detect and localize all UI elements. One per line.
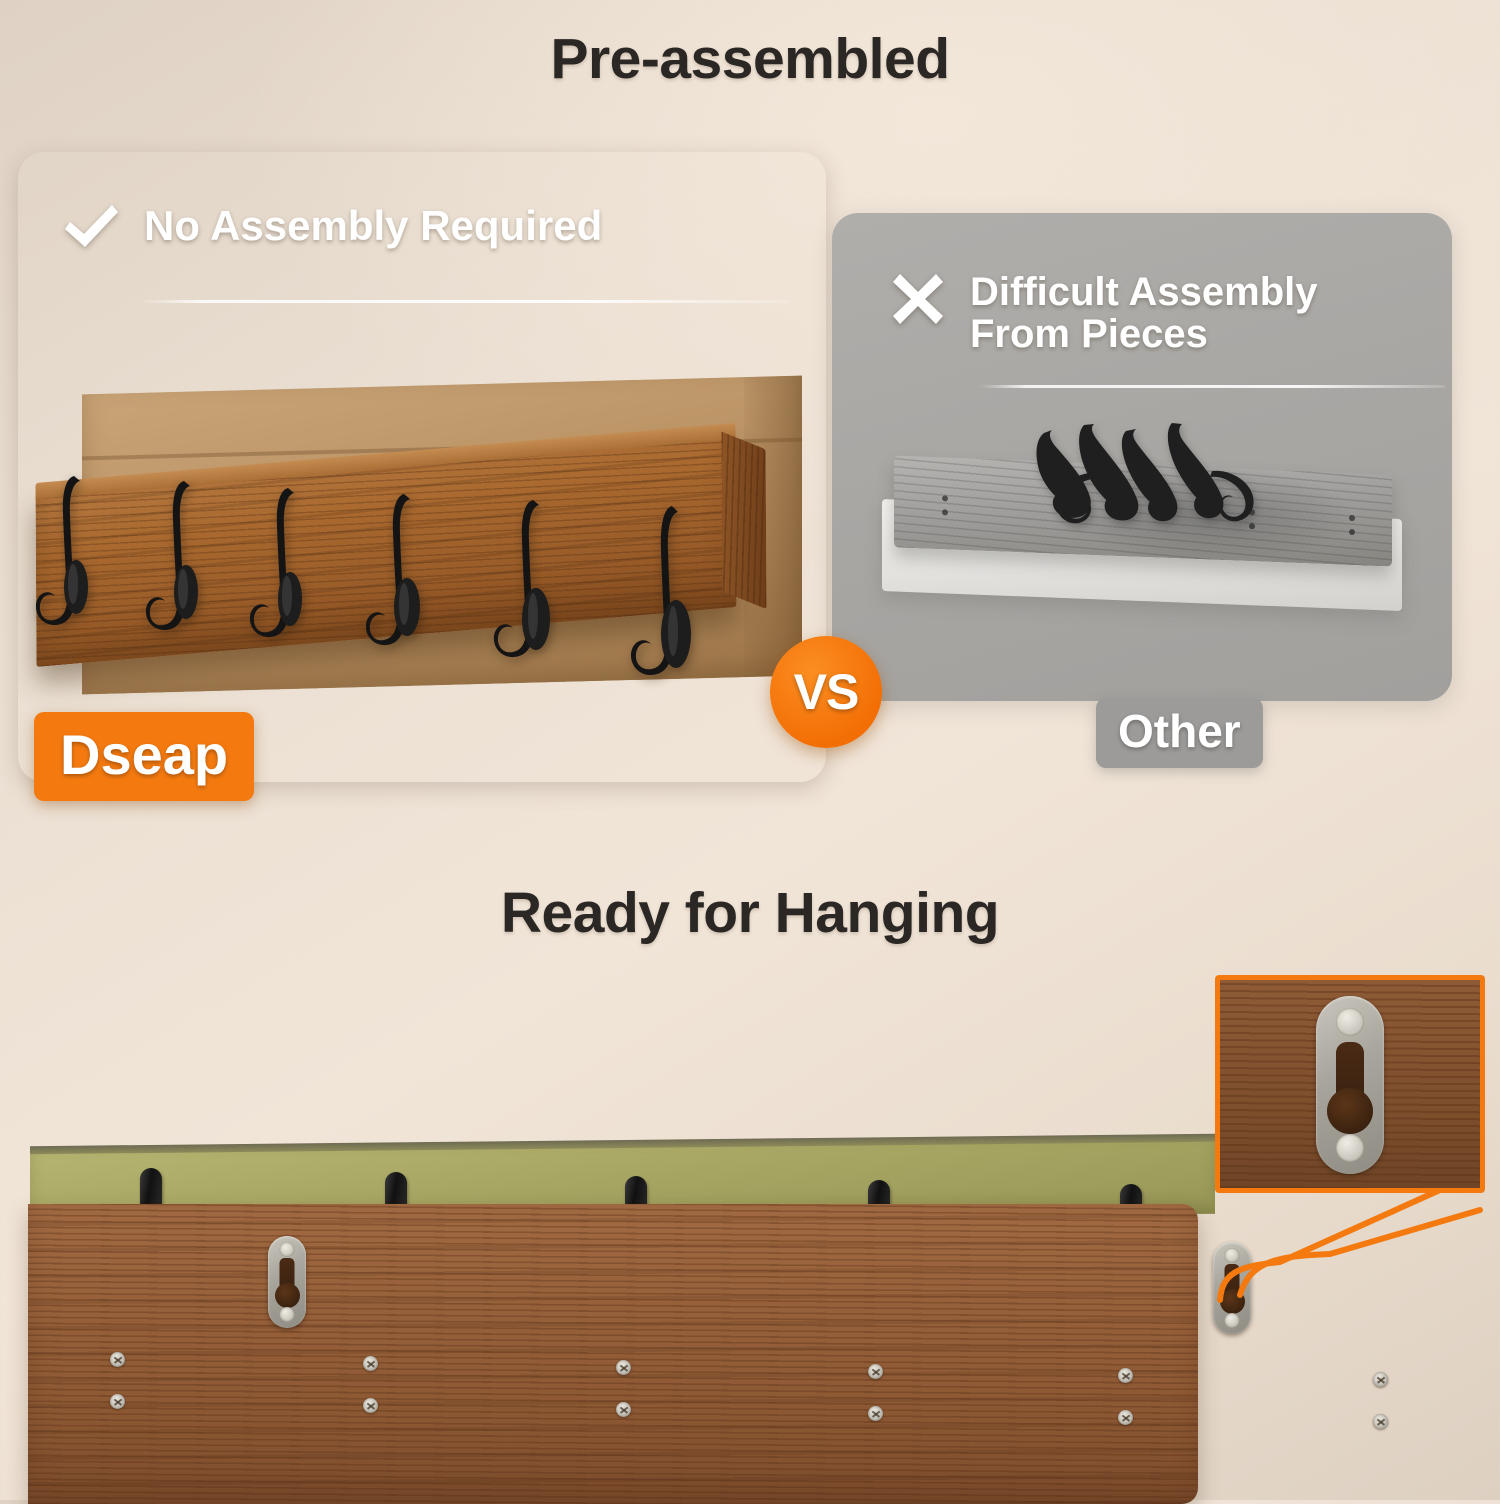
- keyhole-screw: [1225, 1248, 1240, 1263]
- coat-hook: [366, 490, 432, 666]
- versus-badge: VS: [770, 636, 882, 748]
- mounting-screw: [868, 1364, 883, 1379]
- mounting-screw: [363, 1398, 378, 1413]
- mounting-screw: [616, 1402, 631, 1417]
- keyhole-hanger-right: [1213, 1242, 1251, 1334]
- mounting-screw: [363, 1356, 378, 1371]
- keyhole-screw: [280, 1307, 295, 1322]
- good-panel-divider: [138, 300, 788, 303]
- rack-back-board: [28, 1204, 1198, 1504]
- good-panel-header: No Assembly Required: [60, 202, 602, 254]
- comparison-panel-dseap: No Assembly Required: [18, 152, 826, 782]
- keyhole-hanger-detail: [1316, 996, 1384, 1174]
- keyhole-slot: [280, 1258, 295, 1302]
- keyhole-detail-callout: [1215, 975, 1485, 1193]
- check-icon: [60, 202, 122, 254]
- pilot-hole: [942, 495, 948, 501]
- coat-hook: [630, 502, 704, 694]
- comparison-panel-other: Difficult Assembly From Pieces: [832, 213, 1452, 701]
- mounting-screw: [1373, 1372, 1388, 1387]
- brand-badge-dseap: Dseap: [34, 712, 254, 801]
- keyhole-screw: [1336, 1008, 1364, 1036]
- photo-unassembled-parts: [842, 409, 1442, 639]
- coat-hook: [146, 477, 212, 649]
- keyhole-screw: [280, 1242, 295, 1257]
- keyhole-screw: [1225, 1313, 1240, 1328]
- keyhole-slot: [1225, 1264, 1240, 1308]
- pilot-hole: [1349, 529, 1355, 535]
- keyhole-hanger-left: [268, 1236, 306, 1328]
- pilot-hole: [942, 509, 948, 515]
- page-title-pre-assembled: Pre-assembled: [0, 26, 1500, 92]
- page-title-ready-for-hanging: Ready for Hanging: [0, 880, 1500, 946]
- mounting-screw: [1373, 1414, 1388, 1429]
- bad-panel-label: Difficult Assembly From Pieces: [970, 271, 1317, 356]
- coat-hook: [250, 484, 316, 656]
- keyhole-slot: [1336, 1042, 1364, 1122]
- good-panel-label: No Assembly Required: [144, 204, 602, 249]
- mounting-screw: [1118, 1368, 1133, 1383]
- product-infographic: Pre-assembled No Assembly Required: [0, 0, 1500, 1500]
- loose-hook-pile: [1022, 417, 1292, 567]
- mounting-screw: [868, 1406, 883, 1421]
- mounting-screw: [1118, 1410, 1133, 1425]
- photo-rack-back-side: [0, 1140, 1500, 1500]
- coat-hook: [493, 496, 563, 678]
- coat-hook: [36, 472, 102, 644]
- bad-panel-divider: [980, 385, 1445, 388]
- hook-tip: [140, 1168, 162, 1208]
- other-badge: Other: [1096, 698, 1263, 768]
- pilot-hole: [1349, 515, 1355, 521]
- x-icon: [890, 271, 946, 327]
- mounting-screw: [110, 1394, 125, 1409]
- board-right-face: [722, 432, 767, 610]
- keyhole-screw: [1336, 1134, 1364, 1162]
- bad-panel-header: Difficult Assembly From Pieces: [890, 271, 1317, 356]
- mounting-screw: [616, 1360, 631, 1375]
- mounting-screw: [110, 1352, 125, 1367]
